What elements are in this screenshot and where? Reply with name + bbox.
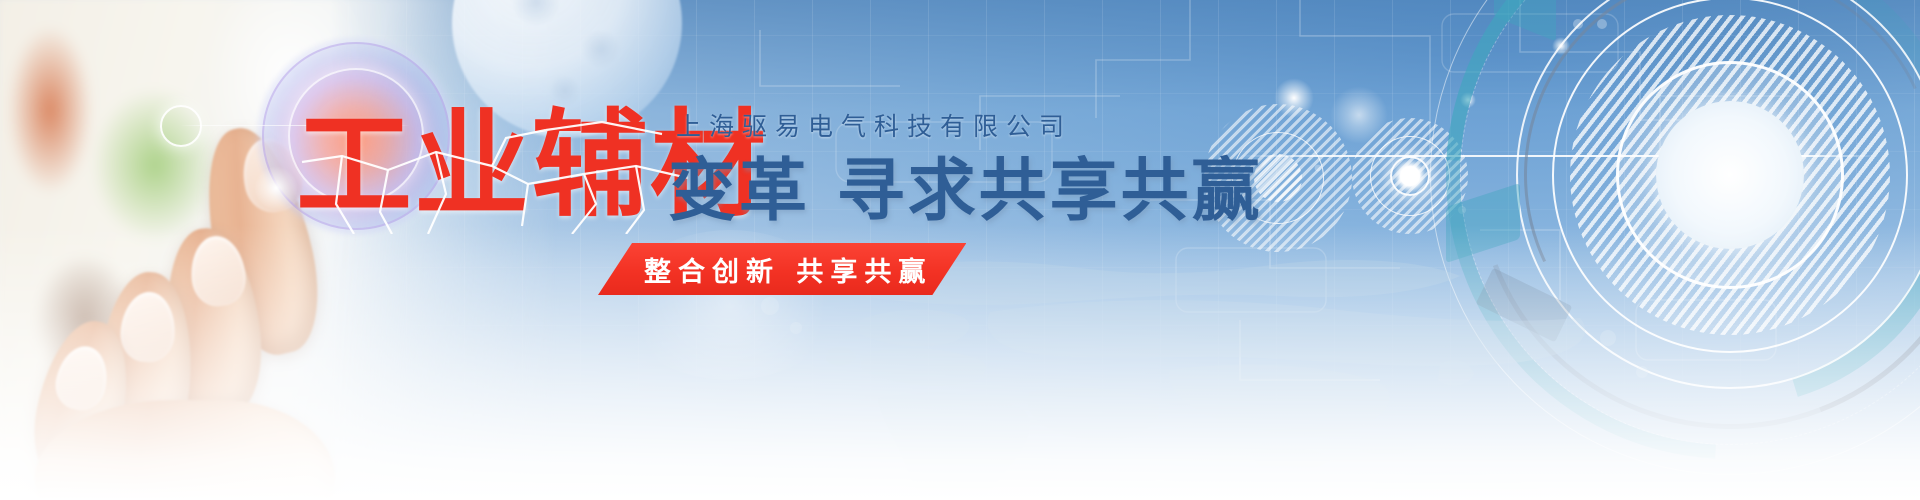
hero-banner: 工业辅材 上海驱易电气科技有限公司 变革 寻求共享共赢 整合创新 共享共赢 (0, 0, 1920, 500)
headline-blue-slogan: 变革 寻求共享共赢 (668, 158, 1263, 226)
company-name-text: 上海驱易电气科技有限公司 (676, 114, 1072, 139)
slogan-ribbon: 整合创新 共享共赢 (598, 243, 966, 295)
slogan-ribbon-text: 整合创新 共享共赢 (644, 250, 932, 289)
